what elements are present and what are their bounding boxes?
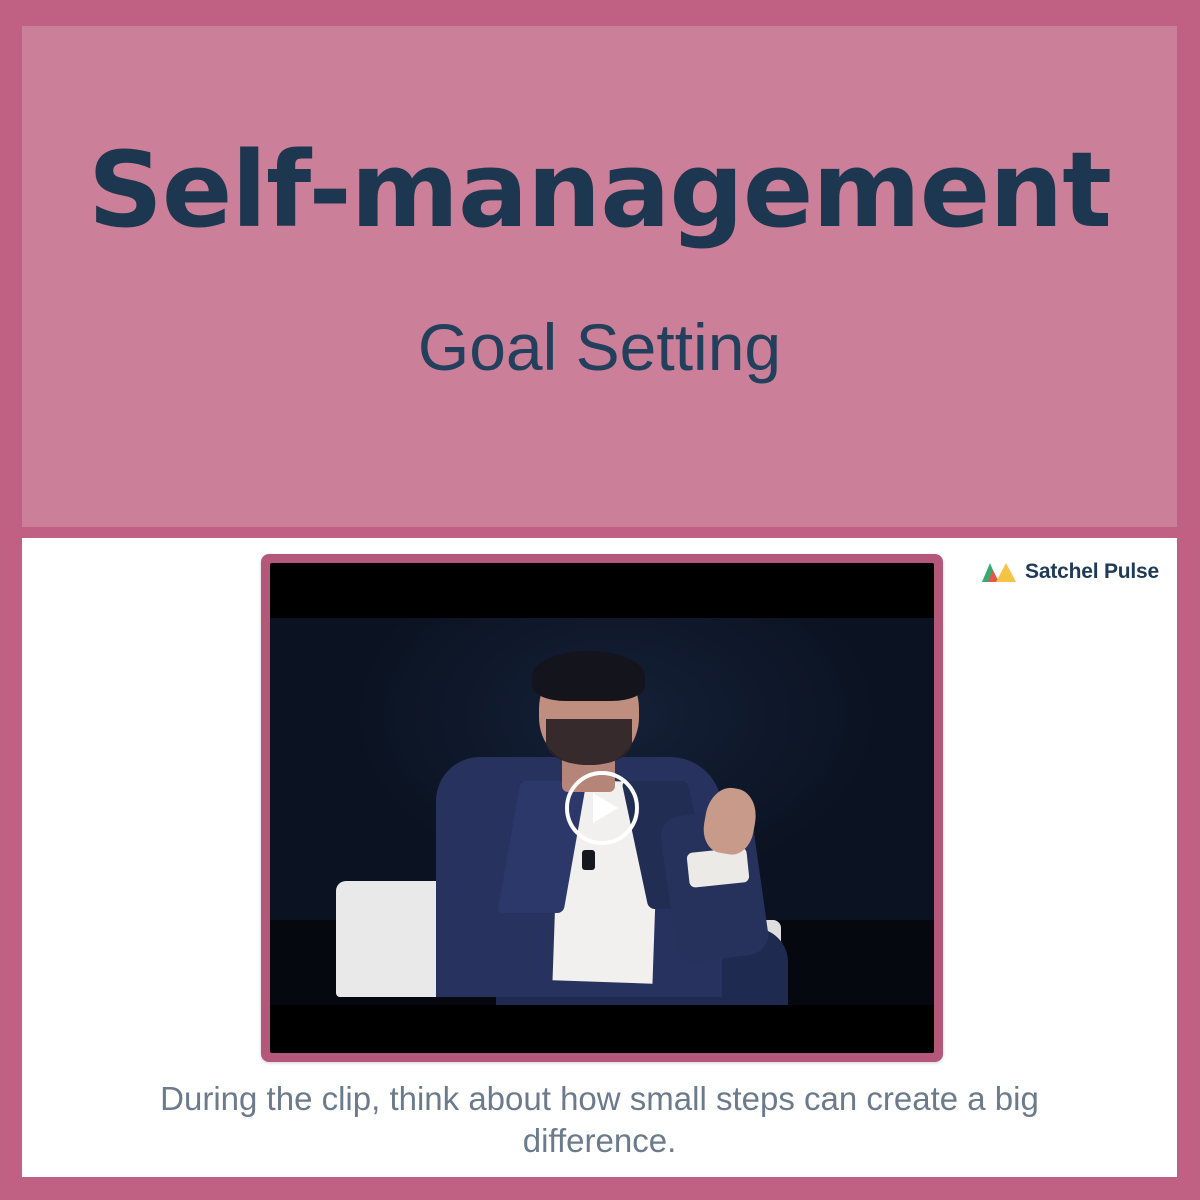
satchel-pulse-mountain-icon bbox=[982, 561, 1016, 583]
video-caption: During the clip, think about how small s… bbox=[82, 1078, 1117, 1162]
lapel-microphone-icon bbox=[582, 850, 595, 870]
figure-shirt-cuff bbox=[687, 847, 750, 888]
brand-logo: Satchel Pulse bbox=[982, 560, 1159, 584]
page-subtitle: Goal Setting bbox=[22, 311, 1177, 384]
slide-root: Self-management Goal Setting Satchel Pul… bbox=[0, 0, 1200, 1200]
brand-name: Satchel Pulse bbox=[1025, 560, 1159, 584]
figure-hair bbox=[532, 651, 645, 701]
figure-beard bbox=[546, 719, 632, 765]
play-triangle-icon bbox=[593, 793, 618, 823]
video-poster[interactable] bbox=[270, 563, 934, 1053]
play-button[interactable] bbox=[565, 771, 639, 845]
page-title: Self-management bbox=[22, 136, 1177, 245]
content-panel: Satchel Pulse bbox=[22, 538, 1177, 1177]
video-card[interactable] bbox=[261, 554, 943, 1062]
title-band: Self-management Goal Setting bbox=[22, 26, 1177, 527]
